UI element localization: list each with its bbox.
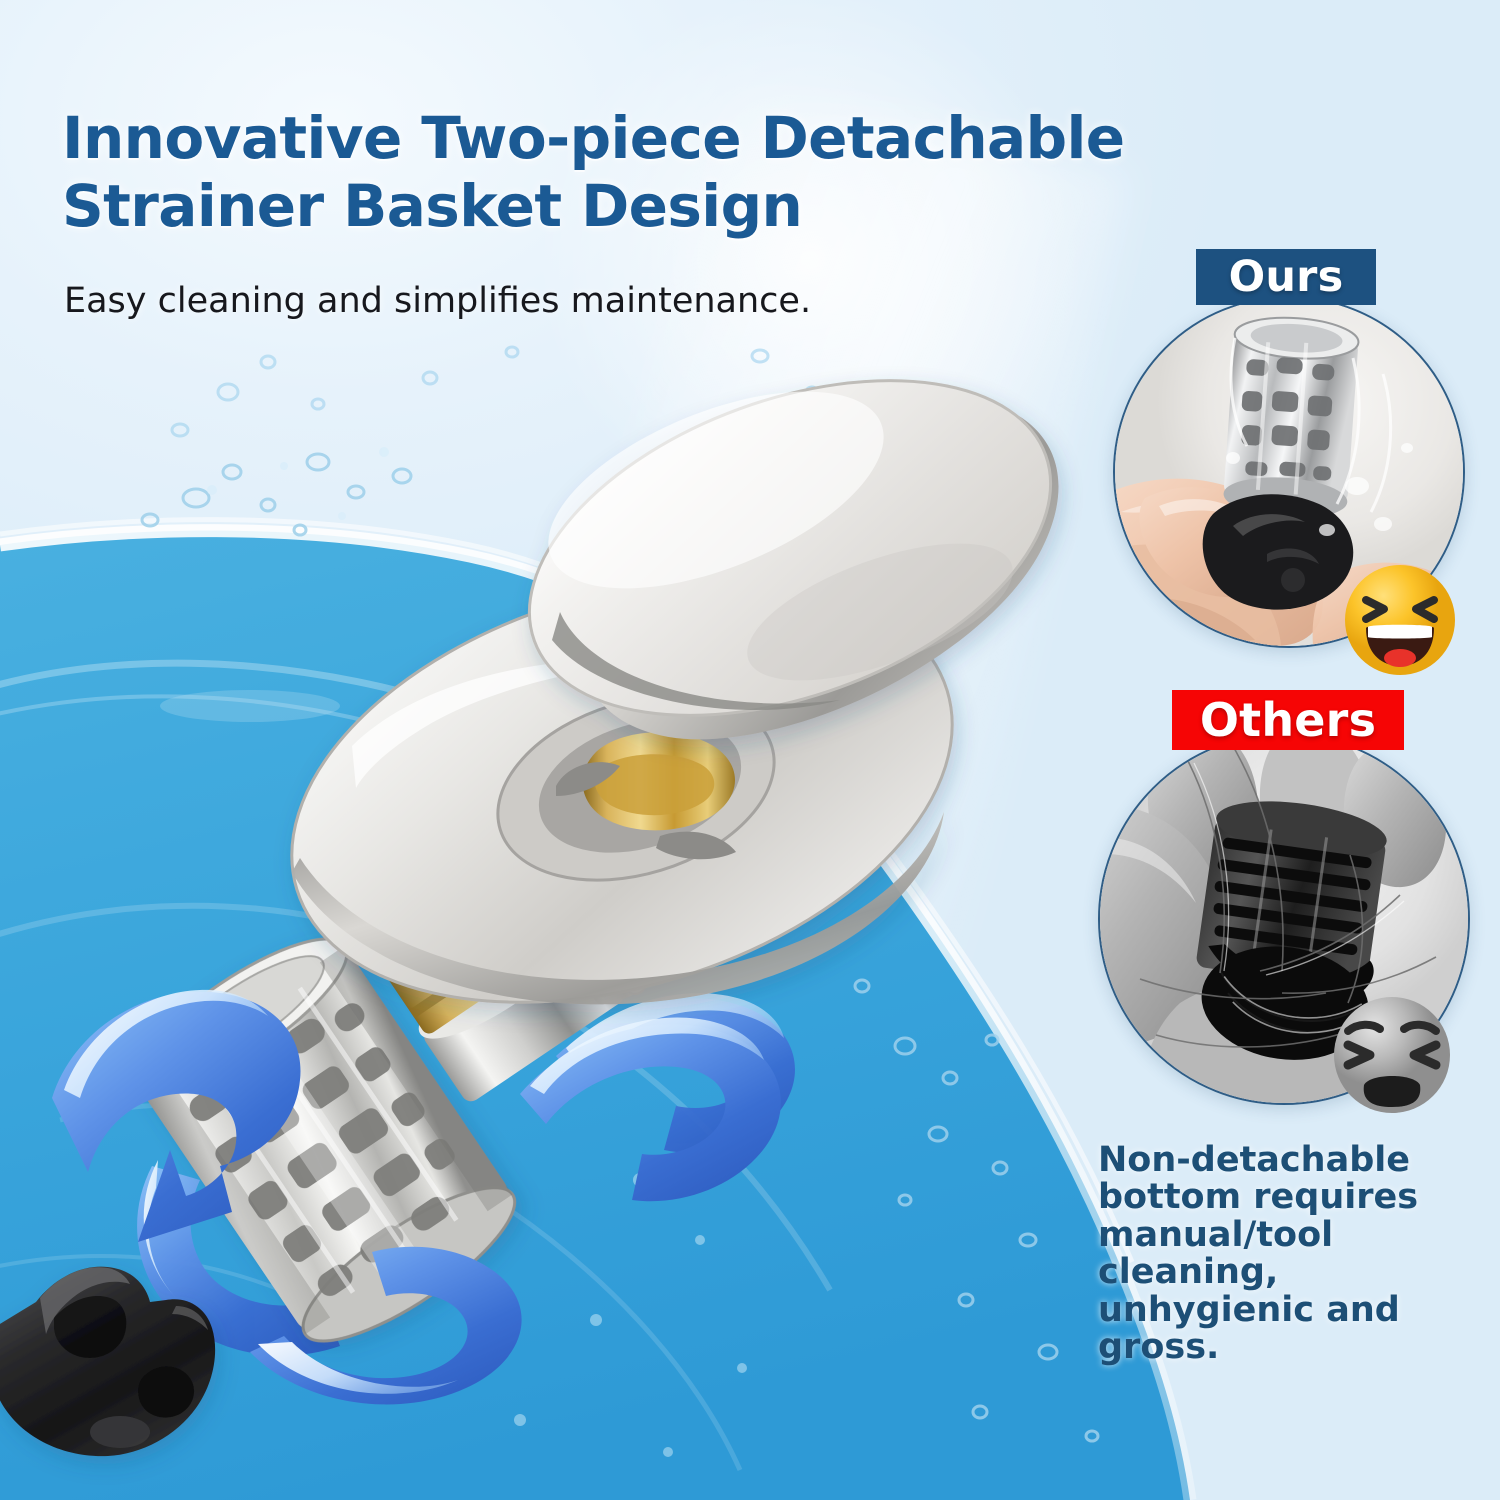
page-subtitle: Easy cleaning and simplifies maintenance…	[64, 281, 964, 321]
headline-line-2: Strainer Basket Design	[62, 172, 1192, 240]
others-caption: Non-detachable bottom requires manual/to…	[1098, 1142, 1494, 1367]
headline-line-1: Innovative Two-piece Detachable	[62, 104, 1192, 172]
laughing-face-emoji	[1342, 562, 1458, 678]
page-title: Innovative Two-piece Detachable Strainer…	[62, 104, 1192, 241]
product-marketing-image: Innovative Two-piece Detachable Strainer…	[0, 0, 1500, 1500]
weary-face-emoji	[1330, 993, 1454, 1117]
badge-others: Others	[1172, 690, 1404, 750]
badge-ours: Ours	[1196, 249, 1376, 305]
